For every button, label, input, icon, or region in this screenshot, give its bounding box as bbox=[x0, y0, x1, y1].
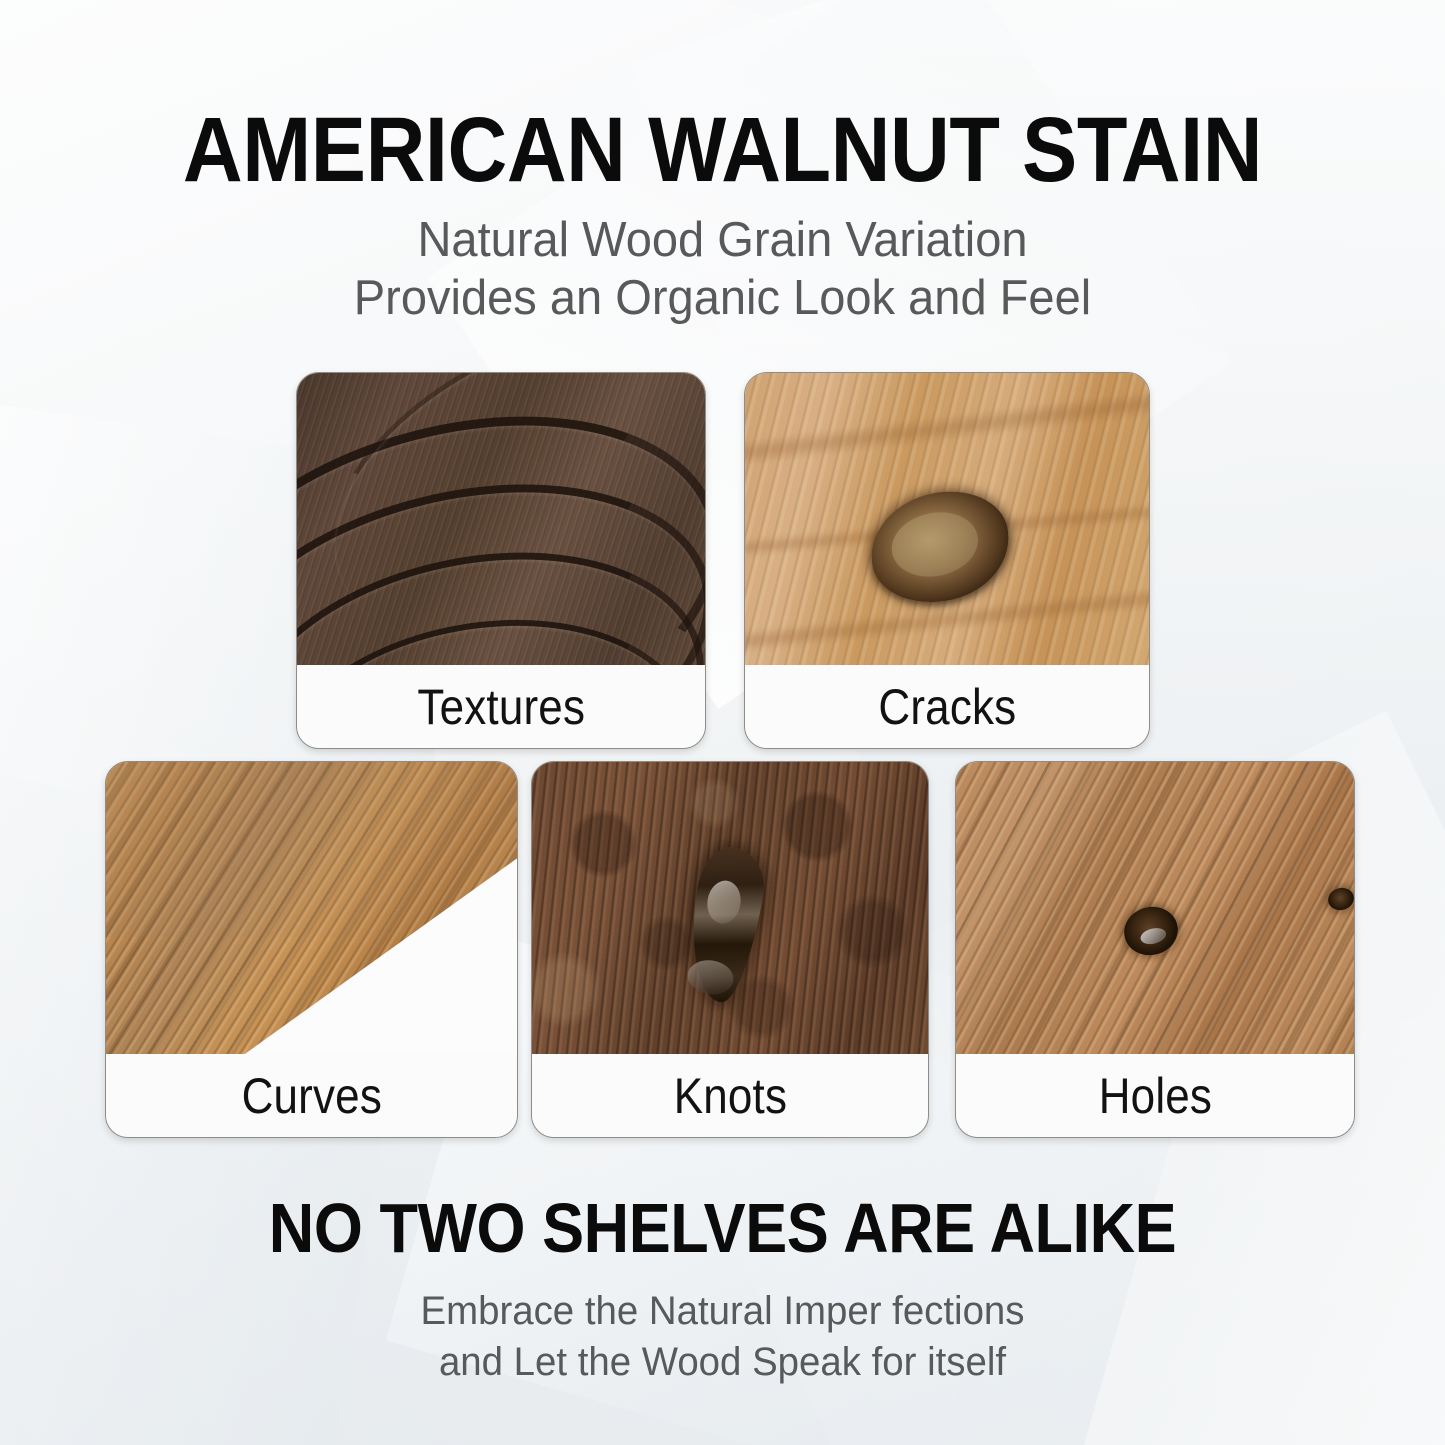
page-subtitle: Natural Wood Grain Variation Provides an… bbox=[29, 212, 1416, 328]
card-label-band-holes: Holes bbox=[956, 1054, 1354, 1137]
infographic-page: AMERICAN WALNUT STAIN Natural Wood Grain… bbox=[0, 0, 1445, 1445]
closing-subtitle-line-1: Embrace the Natural Imper fections bbox=[29, 1286, 1416, 1337]
card-label-cracks: Cracks bbox=[878, 678, 1016, 736]
honey-pine-diagonal-grain-photo bbox=[106, 762, 517, 1054]
card-label-curves: Curves bbox=[241, 1067, 381, 1125]
feature-card-holes[interactable]: Holes bbox=[955, 761, 1355, 1138]
card-label-band-textures: Textures bbox=[297, 665, 705, 748]
card-label-band-knots: Knots bbox=[532, 1054, 928, 1137]
feature-card-cracks[interactable]: Cracks bbox=[744, 372, 1150, 749]
page-subtitle-line-2: Provides an Organic Look and Feel bbox=[29, 270, 1416, 328]
closing-subtitle: Embrace the Natural Imper fections and L… bbox=[29, 1286, 1416, 1388]
closing-subtitle-line-2: and Let the Wood Speak for itself bbox=[29, 1337, 1416, 1388]
dark-walnut-arc-grain-photo bbox=[297, 373, 705, 665]
red-brown-mottled-knot-photo bbox=[532, 762, 928, 1054]
card-label-textures: Textures bbox=[417, 678, 585, 736]
tan-wood-pin-holes-photo bbox=[956, 762, 1354, 1054]
card-label-holes: Holes bbox=[1098, 1067, 1211, 1125]
card-label-knots: Knots bbox=[673, 1067, 786, 1125]
feature-card-curves[interactable]: Curves bbox=[105, 761, 518, 1138]
page-title: AMERICAN WALNUT STAIN bbox=[72, 104, 1373, 196]
page-subtitle-line-1: Natural Wood Grain Variation bbox=[29, 212, 1416, 270]
feature-card-knots[interactable]: Knots bbox=[531, 761, 929, 1138]
feature-card-textures[interactable]: Textures bbox=[296, 372, 706, 749]
pale-tan-wood-knot-photo bbox=[745, 373, 1149, 665]
card-label-band-cracks: Cracks bbox=[745, 665, 1149, 748]
closing-title: NO TWO SHELVES ARE ALIKE bbox=[72, 1193, 1373, 1263]
card-label-band-curves: Curves bbox=[106, 1054, 517, 1137]
